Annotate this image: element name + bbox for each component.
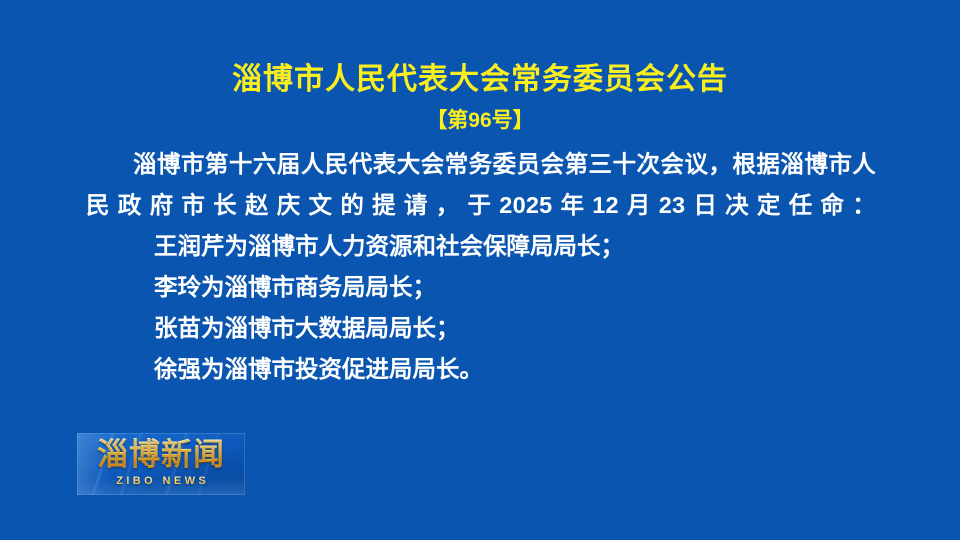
appointment-list: 王润芹为淄博市人力资源和社会保障局局长； 李玲为淄博市商务局局长； 张苗为淄博市… xyxy=(86,226,876,390)
station-logo-name-cn: 淄博新闻 xyxy=(77,436,245,474)
list-item: 徐强为淄博市投资促进局局长。 xyxy=(86,349,876,390)
announcement-body: 淄博市第十六届人民代表大会常务委员会第三十次会议，根据淄博市人民政府市长赵庆文的… xyxy=(86,144,876,390)
station-logo-bug: 淄博新闻 ZIBO NEWS xyxy=(77,433,245,495)
list-item: 王润芹为淄博市人力资源和社会保障局局长； xyxy=(86,226,876,267)
announcement-intro-paragraph: 淄博市第十六届人民代表大会常务委员会第三十次会议，根据淄博市人民政府市长赵庆文的… xyxy=(86,144,876,226)
announcement-title: 淄博市人民代表大会常务委员会公告 xyxy=(0,60,960,100)
list-item: 张苗为淄博市大数据局局长； xyxy=(86,308,876,349)
list-item: 李玲为淄博市商务局局长； xyxy=(86,267,876,308)
station-logo-name-en: ZIBO NEWS xyxy=(77,474,245,488)
announcement-number: 【第96号】 xyxy=(0,106,960,136)
broadcast-screen: 淄博市人民代表大会常务委员会公告 【第96号】 淄博市第十六届人民代表大会常务委… xyxy=(0,0,960,540)
